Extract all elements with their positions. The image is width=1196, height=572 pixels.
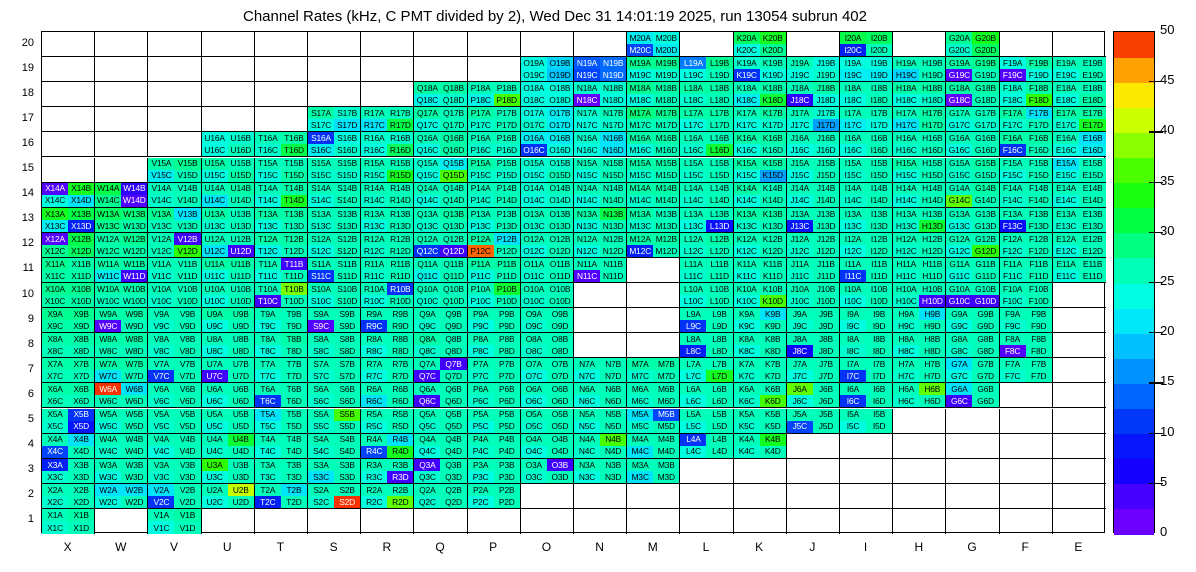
heatmap-cell-Q15: Q15AQ15BQ15CQ15D [414,158,467,183]
channel-S2D: S2D [334,496,360,508]
channel-J7C: J7C [787,370,813,382]
channel-R6B: R6B [387,383,413,395]
channel-I7B: I7B [866,358,892,370]
heatmap-cell-M7: M7AM7BM7CM7D [627,358,680,383]
channel-K19A: K19A [734,57,760,69]
channel-Q12C: Q12C [414,245,440,257]
heatmap-cell-T20 [255,32,308,57]
channel-P16B: P16B [494,132,520,144]
channel-U2D: U2D [228,496,254,508]
channel-I5A: I5A [840,409,866,421]
heatmap-cell-J10: J10AJ10BJ10CJ10D [787,283,840,308]
channel-Q16A: Q16A [414,132,440,144]
heatmap-cell-E11: E11AE11BE11CE11D [1053,258,1106,283]
channel-N4C: N4C [574,446,600,458]
channel-X1D: X1D [68,521,94,534]
channel-O18A: O18A [521,82,547,94]
channel-P12B: P12B [494,233,520,245]
channel-O8C: O8C [521,345,547,357]
channel-U16A: U16A [202,132,228,144]
channel-Q17B: Q17B [440,107,466,119]
channel-L13C: L13C [680,220,706,232]
channel-G15C: G15C [946,170,972,182]
heatmap-cell-R17: R17AR17BR17CR17D [361,107,414,132]
channel-N14A: N14A [574,183,600,195]
heatmap-cell-container: M20AM20BM20CM20DK20AK20BK20CK20DI20AI20B… [42,32,1104,532]
channel-V14D: V14D [174,195,200,207]
heatmap-cell-P6: P6AP6BP6CP6D [468,383,521,408]
channel-P17A: P17A [468,107,494,119]
channel-P7C: P7C [468,370,494,382]
channel-E12D: E12D [1079,245,1106,257]
channel-M14C: M14C [627,195,653,207]
heatmap-cell-P17: P17AP17BP17CP17D [468,107,521,132]
channel-H11A: H11A [893,258,919,270]
heatmap-cell-W12: W12AW12BW12CW12D [95,233,148,258]
heatmap-cell-G18: G18AG18BG18CG18D [946,82,999,107]
channel-H9C: H9C [893,320,919,332]
channel-N3A: N3A [574,459,600,471]
channel-G6A: G6A [946,383,972,395]
channel-I18A: I18A [840,82,866,94]
channel-Q6B: Q6B [440,383,466,395]
heatmap-cell-U6: U6AU6BU6CU6D [202,383,255,408]
heatmap-cell-U2: U2AU2BU2CU2D [202,484,255,509]
channel-T11B: T11B [281,258,307,270]
y-axis-label-7: 7 [0,363,34,375]
channel-E14A: E14A [1053,183,1080,195]
heatmap-cell-V6: V6AV6BV6CV6D [148,383,201,408]
heatmap-cell-L16: L16AL16BL16CL16D [680,132,733,157]
heatmap-cell-S15: S15AS15BS15CS15D [308,158,361,183]
channel-T8D: T8D [281,345,307,357]
channel-N12A: N12A [574,233,600,245]
channel-V3C: V3C [148,471,174,483]
channel-G18A: G18A [946,82,972,94]
channel-F14C: F14C [1000,195,1026,207]
colorbar-segment [1114,308,1154,334]
channel-R16C: R16C [361,144,387,156]
channel-N3C: N3C [574,471,600,483]
heatmap-cell-I15: I15AI15BI15CI15D [840,158,893,183]
channel-J18B: J18B [813,82,839,94]
channel-R17D: R17D [387,119,413,131]
channel-K9C: K9C [734,320,760,332]
channel-Q17C: Q17C [414,119,440,131]
heatmap-cell-L1 [680,509,733,534]
channel-J13C: J13C [787,220,813,232]
channel-U14B: U14B [228,183,254,195]
channel-T5B: T5B [281,409,307,421]
heatmap-cell-J17: J17AJ17BJ17CJ17D [787,107,840,132]
heatmap-cell-X4: X4AX4BX4CX4D [42,434,95,459]
channel-X4A: X4A [42,434,68,446]
heatmap-cell-P13: P13AP13BP13CP13D [468,208,521,233]
channel-R8D: R8D [387,345,413,357]
channel-K20C: K20C [734,44,760,56]
channel-U3A: U3A [202,459,228,471]
heatmap-cell-P10: P10AP10BP10CP10D [468,283,521,308]
channel-M18D: M18D [653,94,679,106]
heatmap-cell-X3: X3AX3BX3CX3D [42,459,95,484]
channel-V1B: V1B [174,509,200,522]
channel-T3C: T3C [255,471,281,483]
channel-P4C: P4C [468,446,494,458]
heatmap-cell-N10 [574,283,627,308]
channel-E12A: E12A [1053,233,1080,245]
channel-H15C: H15C [893,170,919,182]
channel-V7C: V7C [148,370,174,382]
channel-X10D: X10D [68,295,94,307]
channel-L14B: L14B [706,183,732,195]
heatmap-cell-U20 [202,32,255,57]
channel-I18C: I18C [840,94,866,106]
heatmap-cell-Q14: Q14AQ14BQ14CQ14D [414,183,467,208]
heatmap-cell-J3 [787,459,840,484]
channel-R7D: R7D [387,370,413,382]
channel-Q9C: Q9C [414,320,440,332]
heatmap-cell-R16: R16AR16BR16CR16D [361,132,414,157]
channel-V10B: V10B [174,283,200,295]
heatmap-cell-M12: M12AM12BM12CM12D [627,233,680,258]
channel-U9C: U9C [202,320,228,332]
channel-W7C: W7C [95,370,121,382]
channel-W12D: W12D [121,245,147,257]
channel-O13B: O13B [547,208,573,220]
heatmap-cell-K16: K16AK16BK16CK16D [734,132,787,157]
channel-S16C: S16C [308,144,334,156]
heatmap-cell-M13: M13AM13BM13CM13D [627,208,680,233]
heatmap-cell-F7: F7AF7BF7CF7D [1000,358,1053,383]
channel-Q14A: Q14A [414,183,440,195]
channel-M7A: M7A [627,358,653,370]
channel-E18D: E18D [1079,94,1106,106]
channel-K8C: K8C [734,345,760,357]
heatmap-cell-F12: F12AF12BF12CF12D [1000,233,1053,258]
channel-F11B: F11B [1026,258,1052,270]
channel-J14A: J14A [787,183,813,195]
channel-O15A: O15A [521,158,547,170]
heatmap-cell-J16: J16AJ16BJ16CJ16D [787,132,840,157]
channel-K18A: K18A [734,82,760,94]
channel-N6A: N6A [574,383,600,395]
channel-P15B: P15B [494,158,520,170]
channel-M7D: M7D [653,370,679,382]
channel-G8A: G8A [946,333,972,345]
channel-F15D: F15D [1026,170,1052,182]
channel-P3D: P3D [494,471,520,483]
channel-X12D: X12D [68,245,94,257]
channel-J8B: J8B [813,333,839,345]
heatmap-cell-R3: R3AR3BR3CR3D [361,459,414,484]
channel-L5D: L5D [706,421,732,433]
channel-U9A: U9A [202,308,228,320]
channel-H7B: H7B [919,358,945,370]
channel-L15B: L15B [706,158,732,170]
heatmap-cell-O12: O12AO12BO12CO12D [521,233,574,258]
channel-T7C: T7C [255,370,281,382]
channel-N17C: N17C [574,119,600,131]
channel-L6B: L6B [706,383,732,395]
channel-W6D: W6D [121,395,147,407]
heatmap-cell-N7: N7AN7BN7CN7D [574,358,627,383]
channel-L19D: L19D [706,69,732,81]
heatmap-cell-L12: L12AL12BL12CL12D [680,233,733,258]
heatmap-cell-S11: S11AS11BS11CS11D [308,258,361,283]
channel-G20D: G20D [972,44,998,56]
colorbar-tick-label-5: 5 [1160,474,1167,489]
channel-O19A: O19A [521,57,547,69]
channel-E14C: E14C [1053,195,1080,207]
channel-Q6A: Q6A [414,383,440,395]
channel-F8D: F8D [1026,345,1052,357]
colorbar-segment [1114,283,1154,309]
channel-N5A: N5A [574,409,600,421]
channel-O3A: O3A [521,459,547,471]
channel-G9D: G9D [972,320,998,332]
heatmap-cell-G19: G19AG19BG19CG19D [946,57,999,82]
channel-P15D: P15D [494,170,520,182]
channel-V2C: V2C [148,496,174,508]
channel-V7A: V7A [148,358,174,370]
channel-V1C: V1C [148,521,174,534]
channel-K20D: K20D [760,44,786,56]
channel-W2D: W2D [121,496,147,508]
channel-N7A: N7A [574,358,600,370]
channel-F14B: F14B [1026,183,1052,195]
heatmap-cell-I1 [840,509,893,534]
channel-L10B: L10B [706,283,732,295]
colorbar-segment [1114,509,1154,535]
channel-O16C: O16C [521,144,547,156]
channel-K19D: K19D [760,69,786,81]
heatmap-cell-G3 [946,459,999,484]
heatmap-cell-H16: H16AH16BH16CH16D [893,132,946,157]
channel-W12B: W12B [121,233,147,245]
channel-J14D: J14D [813,195,839,207]
channel-P2C: P2C [468,496,494,508]
heatmap-cell-L11: L11AL11BL11CL11D [680,258,733,283]
heatmap-cell-V10: V10AV10BV10CV10D [148,283,201,308]
channel-P10D: P10D [494,295,520,307]
channel-T6B: T6B [281,383,307,395]
channel-H16C: H16C [893,144,919,156]
channel-K16B: K16B [760,132,786,144]
channel-N5D: N5D [600,421,626,433]
channel-R5B: R5B [387,409,413,421]
channel-W13D: W13D [121,220,147,232]
heatmap-cell-F3 [1000,459,1053,484]
heatmap-cell-W2: W2AW2BW2CW2D [95,484,148,509]
channel-R2A: R2A [361,484,387,496]
channel-I6C: I6C [840,395,866,407]
heatmap-cell-P12: P12AP12BP12CP12D [468,233,521,258]
x-axis-label-E: E [1051,540,1105,554]
channel-M5D: M5D [653,421,679,433]
channel-Q4D: Q4D [440,446,466,458]
heatmap-cell-W15 [95,158,148,183]
channel-U6A: U6A [202,383,228,395]
channel-I8A: I8A [840,333,866,345]
channel-X9C: X9C [42,320,68,332]
channel-E15A: E15A [1053,158,1080,170]
channel-X8C: X8C [42,345,68,357]
channel-K17A: K17A [734,107,760,119]
channel-P11D: P11D [494,270,520,282]
channel-G14B: G14B [972,183,998,195]
channel-K12B: K12B [760,233,786,245]
channel-V12C: V12C [148,245,174,257]
channel-V11D: V11D [174,270,200,282]
heatmap-cell-S5: S5AS5BS5CS5D [308,409,361,434]
heatmap-cell-J8: J8AJ8BJ8CJ8D [787,333,840,358]
channel-P2B: P2B [494,484,520,496]
channel-P10A: P10A [468,283,494,295]
y-axis-label-8: 8 [0,338,34,350]
channel-G10D: G10D [972,295,998,307]
heatmap-cell-F20 [1000,32,1053,57]
heatmap-cell-R13: R13AR13BR13CR13D [361,208,414,233]
colorbar-tick-label-50: 50 [1160,22,1174,37]
channel-M12A: M12A [627,233,653,245]
channel-S5D: S5D [334,421,360,433]
channel-W5B: W5B [121,409,147,421]
channel-I17A: I17A [840,107,866,119]
channel-M5A: M5A [627,409,653,421]
channel-P18A: P18A [468,82,494,94]
channel-U13A: U13A [202,208,228,220]
channel-J12D: J12D [813,245,839,257]
channel-O3C: O3C [521,471,547,483]
channel-L18C: L18C [680,94,706,106]
heatmap-cell-X6: X6AX6BX6CX6D [42,383,95,408]
heatmap-cell-V18 [148,82,201,107]
heatmap-cell-Q8: Q8AQ8BQ8CQ8D [414,333,467,358]
heatmap-cell-J5: J5AJ5BJ5CJ5D [787,409,840,434]
channel-K19C: K19C [734,69,760,81]
channel-N16D: N16D [600,144,626,156]
channel-F10C: F10C [1000,295,1026,307]
channel-N18B: N18B [600,82,626,94]
heatmap-cell-R6: R6AR6BR6CR6D [361,383,414,408]
channel-F13C: F13C [1000,220,1026,232]
channel-U8B: U8B [228,333,254,345]
channel-G10C: G10C [946,295,972,307]
channel-L13A: L13A [680,208,706,220]
channel-K5C: K5C [734,421,760,433]
heatmap-cell-P1 [468,509,521,534]
channel-M4A: M4A [627,434,653,446]
channel-Q11B: Q11B [440,258,466,270]
heatmap-cell-S16: S16AS16BS16CS16D [308,132,361,157]
heatmap-cell-K20: K20AK20BK20CK20D [734,32,787,57]
heatmap-cell-W3: W3AW3BW3CW3D [95,459,148,484]
channel-R5D: R5D [387,421,413,433]
channel-J12C: J12C [787,245,813,257]
channel-L9A: L9A [680,308,706,320]
channel-T13B: T13B [281,208,307,220]
x-axis-label-J: J [785,540,839,554]
heatmap-cell-V9: V9AV9BV9CV9D [148,308,201,333]
channel-J9B: J9B [813,308,839,320]
channel-V5B: V5B [174,409,200,421]
channel-W11C: W11C [95,270,121,282]
channel-I19A: I19A [840,57,866,69]
channel-U13B: U13B [228,208,254,220]
channel-L15C: L15C [680,170,706,182]
channel-H10A: H10A [893,283,919,295]
channel-P7D: P7D [494,370,520,382]
channel-X12A: X12A [42,233,68,245]
channel-G17C: G17C [946,119,972,131]
channel-T9C: T9C [255,320,281,332]
heatmap-cell-G12: G12AG12BG12CG12D [946,233,999,258]
channel-N3B: N3B [600,459,626,471]
channel-K4A: K4A [734,434,760,446]
channel-J9D: J9D [813,320,839,332]
heatmap-cell-Q19 [414,57,467,82]
heatmap-cell-N20 [574,32,627,57]
channel-M16B: M16B [653,132,679,144]
x-axis-label-K: K [732,540,786,554]
channel-H10C: H10C [893,295,919,307]
channel-T3A: T3A [255,459,281,471]
channel-X14B: X14B [68,183,94,195]
channel-V6A: V6A [148,383,174,395]
heatmap-cell-Q6: Q6AQ6BQ6CQ6D [414,383,467,408]
heatmap-cell-U3: U3AU3BU3CU3D [202,459,255,484]
channel-G16A: G16A [946,132,972,144]
channel-R7A: R7A [361,358,387,370]
channel-U16B: U16B [228,132,254,144]
channel-L13B: L13B [706,208,732,220]
channel-J15A: J15A [787,158,813,170]
channel-E17A: E17A [1053,107,1080,119]
channel-H14B: H14B [919,183,945,195]
channel-V13A: V13A [148,208,174,220]
heatmap-cell-N1 [574,509,627,534]
heatmap-cell-G16: G16AG16BG16CG16D [946,132,999,157]
channel-F7A: F7A [1000,358,1026,370]
channel-F10D: F10D [1026,295,1052,307]
heatmap-cell-X10: X10AX10BX10CX10D [42,283,95,308]
heatmap-cell-E1 [1053,509,1106,534]
channel-K15C: K15C [734,170,760,182]
colorbar-tick-label-40: 40 [1160,122,1174,137]
channel-F18B: F18B [1026,82,1052,94]
x-axis-label-X: X [41,540,95,554]
channel-N7D: N7D [600,370,626,382]
heatmap-cell-R10: R10AR10BR10CR10D [361,283,414,308]
channel-L4A: L4A [680,434,706,446]
channel-S17B: S17B [334,107,360,119]
heatmap-cell-H8: H8AH8BH8CH8D [893,333,946,358]
channel-Q4A: Q4A [414,434,440,446]
channel-T12A: T12A [255,233,281,245]
heatmap-cell-X9: X9AX9BX9CX9D [42,308,95,333]
channel-P7B: P7B [494,358,520,370]
channel-L16D: L16D [706,144,732,156]
channel-J7B: J7B [813,358,839,370]
channel-H19C: H19C [893,69,919,81]
channel-E12C: E12C [1053,245,1080,257]
channel-X11C: X11C [42,270,68,282]
channel-T11A: T11A [255,258,281,270]
channel-S7C: S7C [308,370,334,382]
channel-R2B: R2B [387,484,413,496]
channel-G7A: G7A [946,358,972,370]
channel-O10C: O10C [521,295,547,307]
